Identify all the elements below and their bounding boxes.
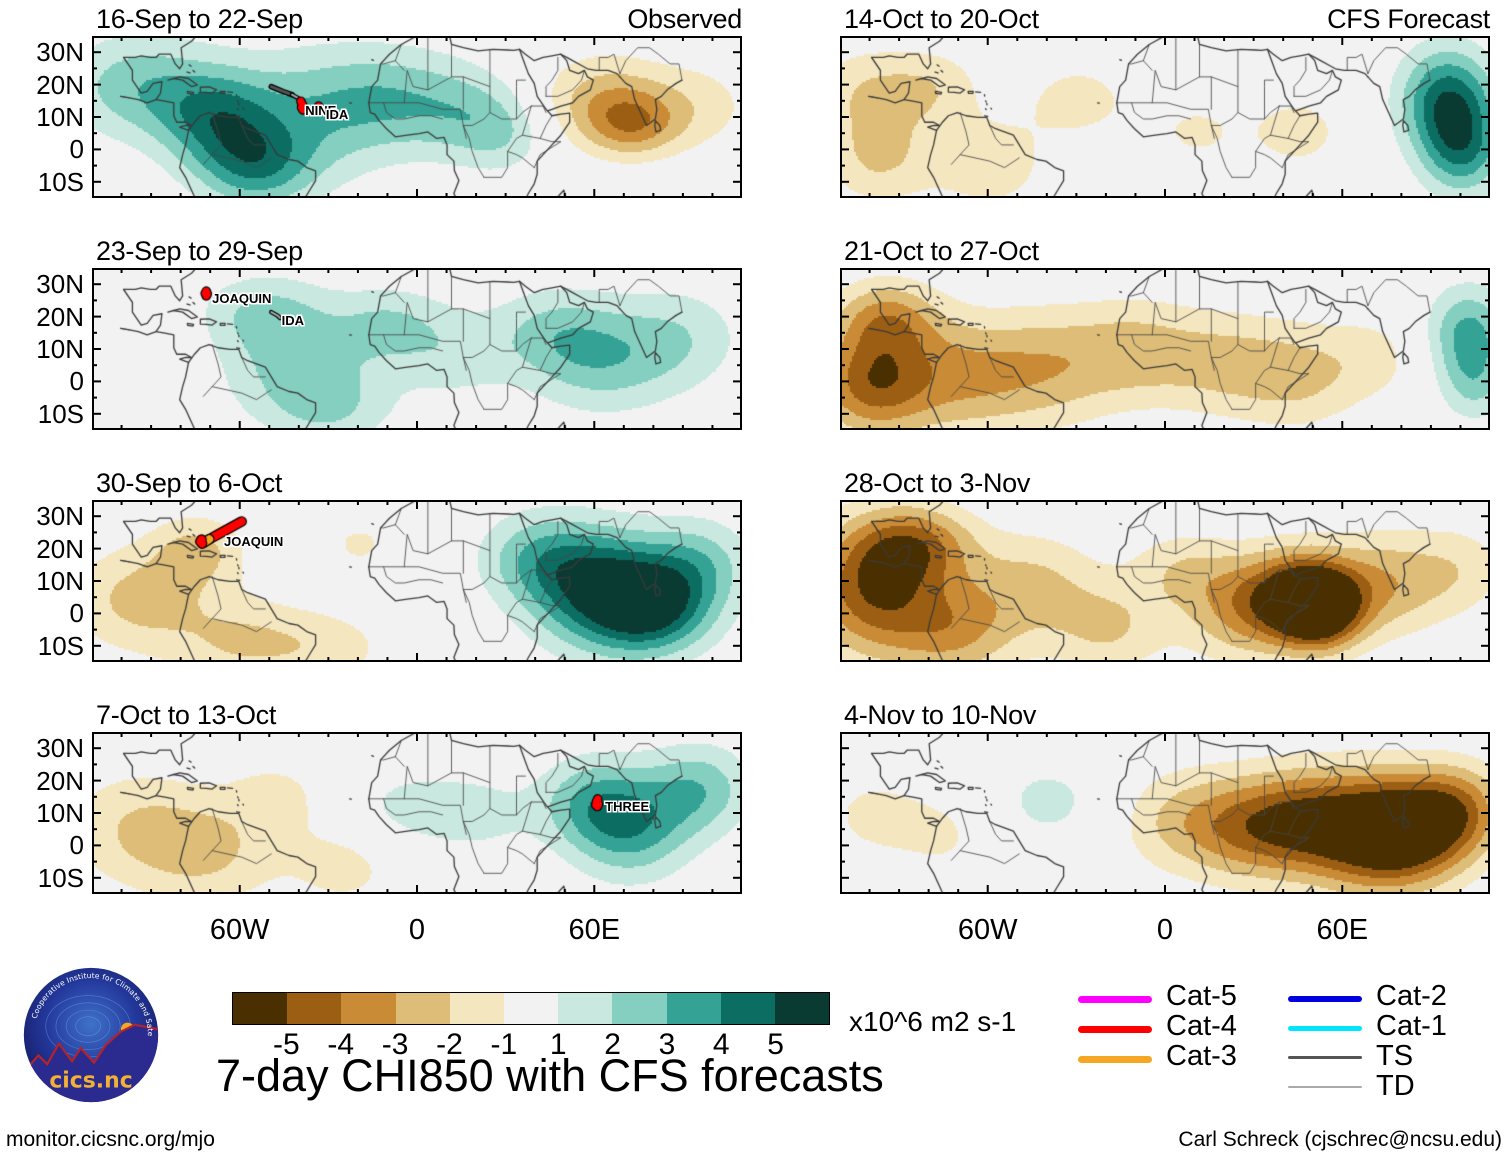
x-axis-label: 0	[1105, 914, 1225, 947]
legend-label: TS	[1376, 1040, 1413, 1073]
map-canvas: JOAQUIN	[92, 500, 742, 662]
legend-label: Cat-5	[1166, 980, 1237, 1013]
y-axis-label: 30N	[6, 37, 84, 68]
cics-nc-logo: cics.nc Cooperative Institute for Climat…	[18, 962, 164, 1108]
figure-title: 7-day CHI850 with CFS forecasts	[216, 1050, 884, 1102]
author-credit-label: Carl Schreck (cjschrec@ncsu.edu)	[1178, 1128, 1502, 1152]
y-axis-label: 10S	[6, 167, 84, 198]
panel-title: 7-Oct to 13-Oct	[96, 700, 276, 731]
colorbar-band	[341, 993, 395, 1024]
legend-color-swatch	[1078, 996, 1152, 1003]
y-axis-label: 0	[6, 830, 84, 861]
figure-root: 16-Sep to 22-SepObservedNINEIDA30N20N10N…	[0, 0, 1510, 1159]
source-url-label: monitor.cicsnc.org/mjo	[6, 1128, 215, 1152]
panel-title: 14-Oct to 20-Oct	[844, 4, 1039, 35]
map-canvas: NINEIDA	[92, 36, 742, 198]
legend-label: Cat-1	[1376, 1010, 1447, 1043]
colorbar-band	[450, 993, 504, 1024]
y-axis-label: 10S	[6, 863, 84, 894]
y-axis-label: 20N	[6, 302, 84, 333]
colorbar-band	[396, 993, 450, 1024]
colorbar-band	[667, 993, 721, 1024]
panel-title: 21-Oct to 27-Oct	[844, 236, 1039, 267]
colorbar-band	[504, 993, 558, 1024]
colorbar-band	[287, 993, 341, 1024]
y-axis-label: 10N	[6, 334, 84, 365]
legend-color-swatch	[1078, 1026, 1152, 1033]
colorbar-band	[721, 993, 775, 1024]
y-axis-label: 0	[6, 598, 84, 629]
legend-label: Cat-2	[1376, 980, 1447, 1013]
column-header-left: Observed	[442, 4, 742, 35]
legend-color-swatch	[1288, 1086, 1362, 1088]
map-canvas	[840, 732, 1490, 894]
map-canvas	[840, 500, 1490, 662]
map-canvas: JOAQUINIDA	[92, 268, 742, 430]
legend-color-swatch	[1078, 1056, 1152, 1063]
y-axis-label: 10N	[6, 102, 84, 133]
logo-wordmark: cics.nc	[49, 1069, 132, 1094]
colorbar	[232, 992, 830, 1025]
map-canvas	[840, 36, 1490, 198]
colorbar-band	[775, 993, 829, 1024]
map-canvas: THREE	[92, 732, 742, 894]
panel-title: 28-Oct to 3-Nov	[844, 468, 1030, 499]
colorbar-units-label: x10^6 m2 s-1	[849, 1006, 1016, 1038]
x-axis-label: 60W	[180, 914, 300, 947]
legend-label: Cat-3	[1166, 1040, 1237, 1073]
panel-title: 23-Sep to 29-Sep	[96, 236, 303, 267]
y-axis-label: 0	[6, 366, 84, 397]
legend-label: TD	[1376, 1070, 1415, 1103]
colorbar-band	[558, 993, 612, 1024]
x-axis-label: 60E	[1282, 914, 1402, 947]
y-axis-label: 30N	[6, 501, 84, 532]
panel-title: 4-Nov to 10-Nov	[844, 700, 1036, 731]
legend-color-swatch	[1288, 1026, 1362, 1031]
panel-title: 30-Sep to 6-Oct	[96, 468, 282, 499]
y-axis-label: 20N	[6, 534, 84, 565]
y-axis-label: 30N	[6, 269, 84, 300]
legend-color-swatch	[1288, 1056, 1362, 1059]
legend-color-swatch	[1288, 996, 1362, 1002]
y-axis-label: 20N	[6, 70, 84, 101]
colorbar-band	[233, 993, 287, 1024]
x-axis-label: 60W	[928, 914, 1048, 947]
legend-label: Cat-4	[1166, 1010, 1237, 1043]
y-axis-label: 10N	[6, 566, 84, 597]
y-axis-label: 30N	[6, 733, 84, 764]
column-header-right: CFS Forecast	[1190, 4, 1490, 35]
colorbar-band	[612, 993, 666, 1024]
y-axis-label: 10S	[6, 399, 84, 430]
panel-title: 16-Sep to 22-Sep	[96, 4, 303, 35]
y-axis-label: 0	[6, 134, 84, 165]
y-axis-label: 20N	[6, 766, 84, 797]
y-axis-label: 10S	[6, 631, 84, 662]
map-canvas	[840, 268, 1490, 430]
x-axis-label: 60E	[534, 914, 654, 947]
y-axis-label: 10N	[6, 798, 84, 829]
x-axis-label: 0	[357, 914, 477, 947]
